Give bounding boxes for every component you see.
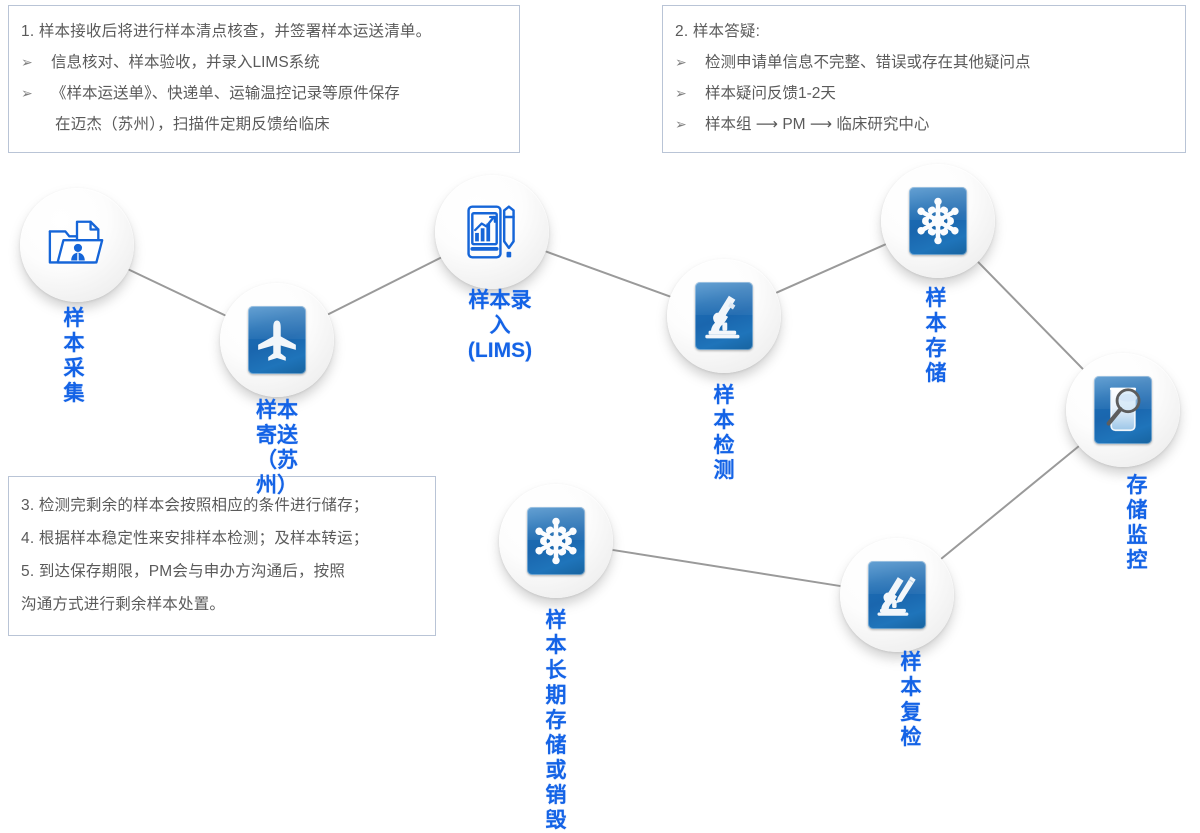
beaker-magnifier-icon — [1094, 376, 1152, 444]
microscope-icon — [695, 282, 753, 350]
node-bubble-sample-collection[interactable] — [20, 188, 134, 302]
node-label-sample-retest: 样本复检 — [901, 650, 922, 750]
note-2-bullet-1-text: 检测申请单信息不完整、错误或存在其他疑问点 — [705, 47, 1031, 78]
note-3-line-3: 5. 到达保存期限，PM会与申办方沟通后，按照 — [21, 555, 423, 588]
note-2-bullet-2-text: 样本疑问反馈1-2天 — [705, 78, 836, 109]
snowflake-icon — [909, 187, 967, 255]
node-label-long-term-storage: 样本长期存储或 销毁 — [546, 608, 567, 833]
connector-storage-monitoring-to-sample-retest — [942, 447, 1078, 559]
node-label-sample-testing: 样本检测 — [714, 383, 735, 483]
bullet-arrow-icon: ➢ — [675, 47, 705, 78]
bullet-arrow-icon: ➢ — [21, 78, 51, 109]
tablet-chart-pen-icon — [462, 202, 522, 262]
note-1-bullet-1: ➢ 信息核对、样本验收，并录入LIMS系统 — [21, 47, 507, 78]
connector-sample-collection-to-sample-shipping — [129, 270, 224, 315]
connector-sample-retest-to-long-term-storage — [613, 550, 839, 586]
snowflake-icon — [527, 507, 585, 575]
node-label-sample-storage: 样本存储 — [926, 286, 947, 386]
node-bubble-sample-storage[interactable] — [881, 164, 995, 278]
note-2-bullet-3-text: 样本组 ⟶ PM ⟶ 临床研究中心 — [705, 109, 929, 140]
bullet-arrow-icon: ➢ — [675, 78, 705, 109]
connector-sample-shipping-to-sample-entry-lims — [329, 258, 440, 314]
note-3-line-1: 3. 检测完剩余的样本会按照相应的条件进行储存； — [21, 489, 423, 522]
node-bubble-sample-retest[interactable] — [840, 538, 954, 652]
note-box-sample-query: 2. 样本答疑: ➢ 检测申请单信息不完整、错误或存在其他疑问点 ➢ 样本疑问反… — [662, 5, 1186, 153]
note-1-heading: 1. 样本接收后将进行样本清点核查，并签署样本运送清单。 — [21, 16, 507, 47]
note-3-line-2: 4. 根据样本稳定性来安排样本检测；及样本转运； — [21, 522, 423, 555]
note-2-bullet-3: ➢ 样本组 ⟶ PM ⟶ 临床研究中心 — [675, 109, 1173, 140]
connector-sample-storage-to-storage-monitoring — [979, 262, 1083, 368]
node-label-sample-collection: 样本采集 — [64, 306, 85, 406]
node-bubble-sample-testing[interactable] — [667, 259, 781, 373]
node-label-sample-entry-lims: 样本录入 (LIMS) — [468, 288, 532, 363]
note-3-line-4: 沟通方式进行剩余样本处置。 — [21, 588, 423, 621]
bullet-arrow-icon: ➢ — [21, 47, 51, 78]
note-box-storage-policy: 3. 检测完剩余的样本会按照相应的条件进行储存； 4. 根据样本稳定性来安排样本… — [8, 476, 436, 636]
note-1-bullet-1-text: 信息核对、样本验收，并录入LIMS系统 — [51, 47, 320, 78]
connector-sample-entry-lims-to-sample-testing — [547, 252, 670, 297]
note-2-bullet-1: ➢ 检测申请单信息不完整、错误或存在其他疑问点 — [675, 47, 1173, 78]
node-label-sample-shipping: 样本寄送 （苏州） — [256, 398, 298, 498]
microscope-pipette-icon — [868, 561, 926, 629]
note-1-bullet-2: ➢ 《样本运送单》、快递单、运输温控记录等原件保存 — [21, 78, 507, 109]
note-box-sample-receipt: 1. 样本接收后将进行样本清点核查，并签署样本运送清单。 ➢ 信息核对、样本验收… — [8, 5, 520, 153]
folder-person-icon — [46, 214, 108, 276]
note-2-bullet-2: ➢ 样本疑问反馈1-2天 — [675, 78, 1173, 109]
note-1-bullet-2-text: 《样本运送单》、快递单、运输温控记录等原件保存 — [51, 78, 400, 109]
bullet-arrow-icon: ➢ — [675, 109, 705, 140]
note-1-continuation: 在迈杰（苏州），扫描件定期反馈给临床 — [21, 109, 507, 140]
flow-diagram-canvas: 1. 样本接收后将进行样本清点核查，并签署样本运送清单。 ➢ 信息核对、样本验收… — [0, 0, 1200, 685]
node-bubble-storage-monitoring[interactable] — [1066, 353, 1180, 467]
connector-sample-testing-to-sample-storage — [777, 245, 885, 293]
airplane-icon — [248, 306, 306, 374]
node-label-storage-monitoring: 存储监控 — [1127, 473, 1148, 573]
node-bubble-long-term-storage[interactable] — [499, 484, 613, 598]
node-bubble-sample-shipping[interactable] — [220, 283, 334, 397]
node-bubble-sample-entry-lims[interactable] — [435, 175, 549, 289]
note-2-heading: 2. 样本答疑: — [675, 16, 1173, 47]
